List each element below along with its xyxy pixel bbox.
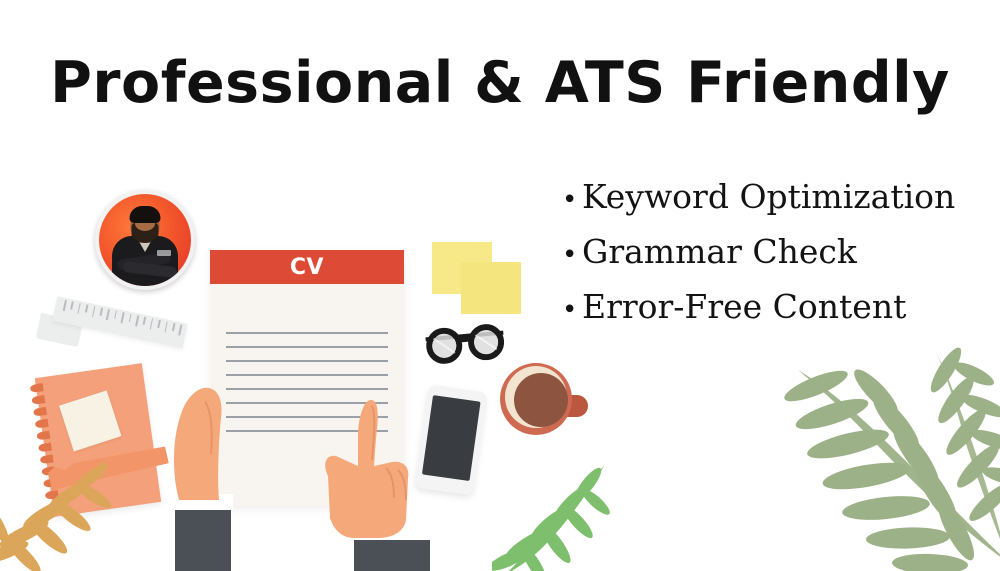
leaf-bottom-left-icon: [0, 452, 140, 571]
ruler-tick: [157, 320, 160, 328]
cv-text-line: [226, 374, 388, 376]
cv-text-line: [226, 346, 388, 348]
list-item-label: Error-Free Content: [582, 288, 906, 327]
leaf-bottom-right-icon: [770, 330, 1000, 571]
cv-header-bar: CV: [210, 250, 404, 284]
ruler-tick: [71, 301, 74, 309]
cv-text-line: [226, 360, 388, 362]
notebook-spiral-ring: [38, 443, 52, 453]
list-item: • Error-Free Content: [562, 288, 982, 327]
ruler-tick: [92, 306, 96, 317]
ruler-tick: [172, 323, 175, 331]
ruler-tick: [150, 318, 154, 329]
notebook-spiral-ring: [33, 407, 47, 417]
cv-text-line: [226, 332, 388, 334]
list-item-label: Keyword Optimization: [582, 178, 955, 217]
notebook-spiral-ring: [35, 419, 49, 429]
notebook-spiral-ring: [30, 383, 44, 393]
coffee-liquid: [514, 373, 568, 427]
notebook-spiral-ring: [31, 395, 45, 405]
list-item-label: Grammar Check: [582, 233, 857, 272]
hand-right-pointing-icon: [306, 380, 441, 571]
notebook-spiral-ring: [36, 431, 50, 441]
page-title: Professional & ATS Friendly: [0, 52, 1000, 115]
sticky-note-yellow-icon: [461, 262, 521, 314]
ruler-tick: [106, 309, 110, 320]
avatar-photo: [99, 194, 191, 286]
ruler-tick: [143, 317, 146, 325]
list-item: • Keyword Optimization: [562, 178, 982, 217]
cv-header-label: CV: [290, 255, 324, 280]
ruler-tick: [114, 311, 117, 319]
ruler-tick: [135, 315, 139, 326]
ruler-tick: [128, 314, 131, 322]
coffee-outer: [500, 363, 572, 435]
avatar-hair: [130, 206, 161, 223]
ruler-tick: [85, 305, 88, 313]
feature-list: • Keyword Optimization • Grammar Check •…: [562, 178, 982, 343]
ruler-tick: [121, 312, 125, 323]
ruler-tick: [100, 308, 103, 316]
leaf-bottom-center-icon: [492, 462, 622, 571]
avatar: [95, 190, 195, 290]
poster-canvas: Professional & ATS Friendly • Keyword Op…: [0, 0, 1000, 571]
bullet-marker-icon: •: [562, 242, 582, 268]
bullet-marker-icon: •: [562, 297, 582, 323]
coffee-rim: [505, 366, 567, 428]
coffee-cup-icon: [500, 363, 576, 439]
ruler-tick: [77, 303, 81, 314]
list-item: • Grammar Check: [562, 233, 982, 272]
hand-left-icon: [165, 382, 241, 571]
ruler-tick: [179, 325, 183, 336]
sticky-note-cream-icon: [59, 390, 121, 451]
ruler-tick: [164, 321, 168, 332]
bullet-marker-icon: •: [562, 187, 582, 213]
avatar-jacket-logo: [157, 250, 171, 256]
ruler-tick: [63, 300, 67, 311]
eyeglasses-icon: [418, 318, 511, 366]
